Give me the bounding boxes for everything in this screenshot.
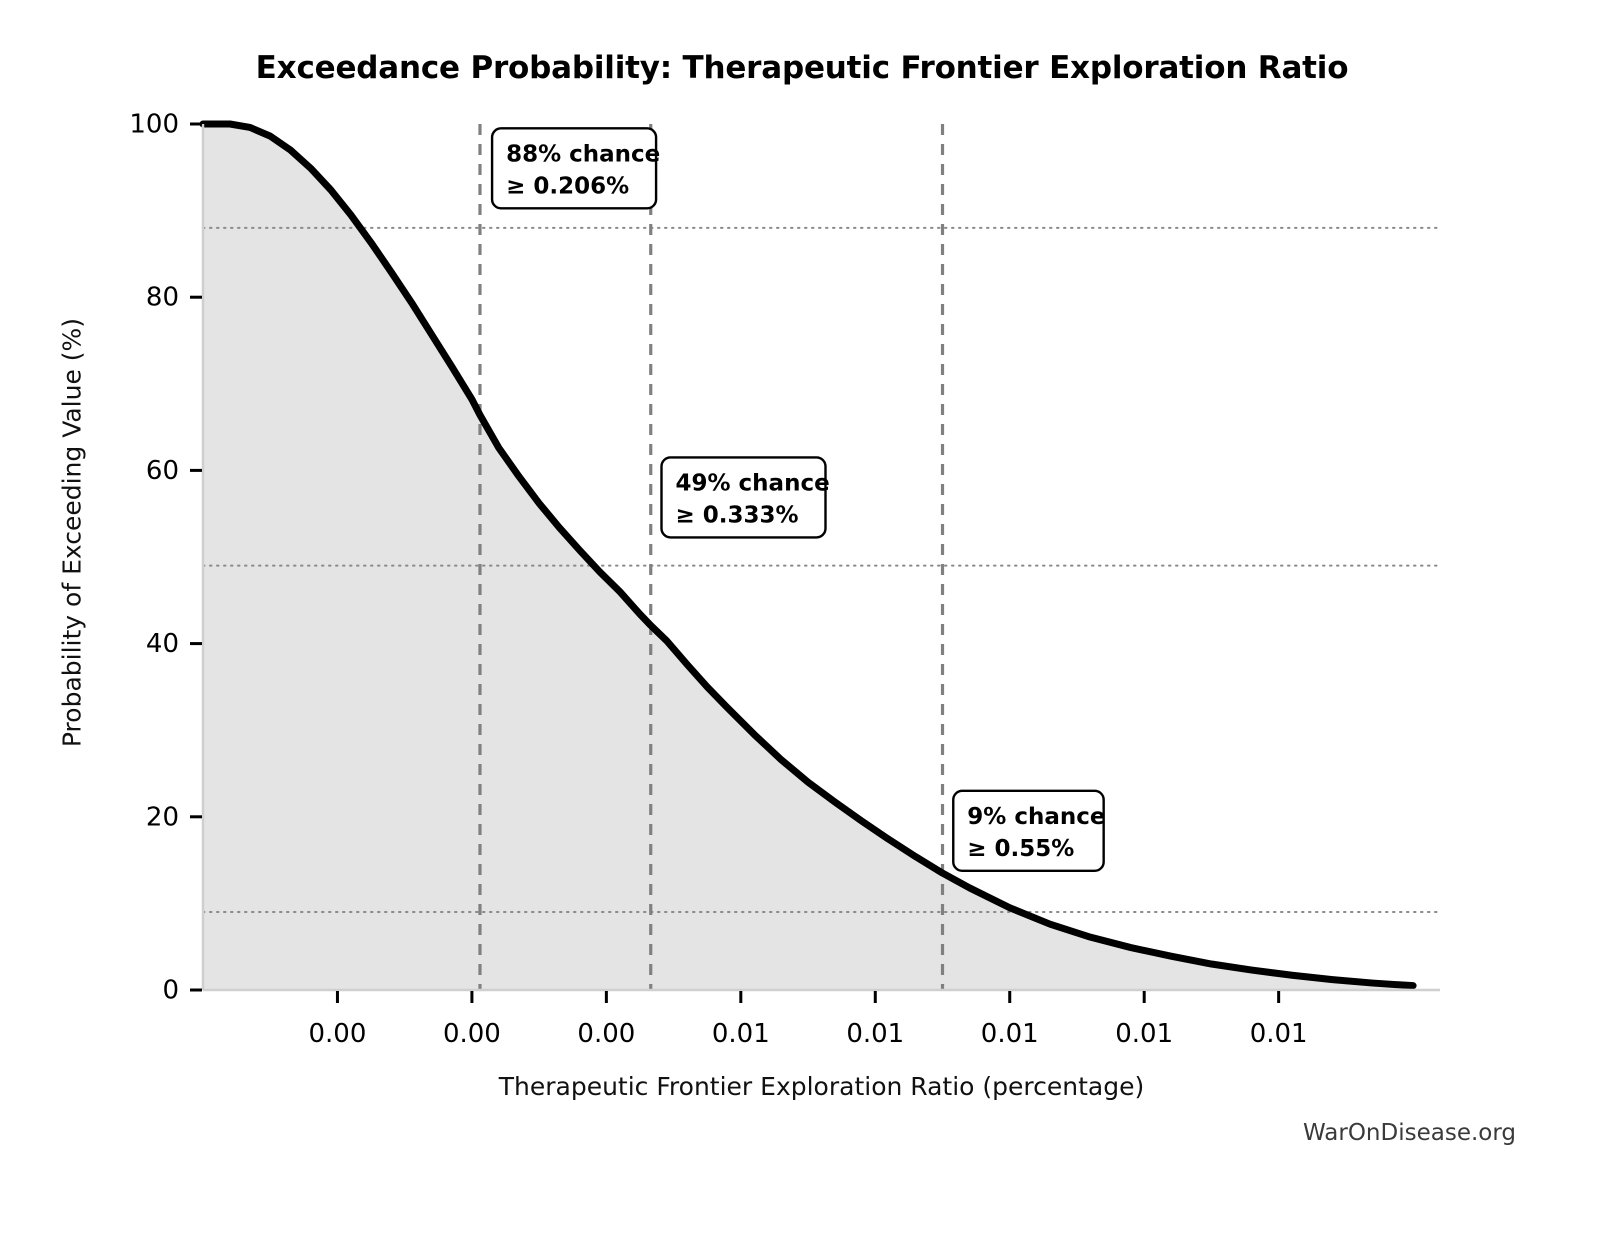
y-axis-tick-label: 80 (146, 283, 179, 313)
area-fill (203, 124, 1413, 990)
annotation-line-1: 88% chance (506, 141, 660, 167)
x-axis-tick-label: 0.01 (1115, 1019, 1173, 1049)
x-axis-label: Therapeutic Frontier Exploration Ratio (… (203, 1072, 1440, 1101)
x-axis-tick-label: 0.01 (712, 1019, 770, 1049)
y-axis-tick-label: 100 (129, 110, 179, 140)
watermark: WarOnDisease.org (1303, 1120, 1516, 1146)
annotation-line-2: ≥ 0.333% (675, 502, 798, 528)
annotation-49: 49% chance≥ 0.333% (661, 457, 829, 537)
y-axis-tick-label: 20 (146, 802, 179, 832)
annotation-line-2: ≥ 0.206% (506, 173, 629, 199)
y-axis-tick-label: 60 (146, 456, 179, 486)
annotation-9: 9% chance≥ 0.55% (953, 791, 1105, 871)
x-axis-tick-label: 0.01 (981, 1019, 1039, 1049)
y-axis-tick-label: 0 (162, 976, 179, 1006)
annotation-line-1: 9% chance (967, 804, 1105, 830)
annotation-line-1: 49% chance (675, 470, 829, 496)
chart-figure: Exceedance Probability: Therapeutic Fron… (0, 0, 1604, 1234)
annotation-line-2: ≥ 0.55% (967, 836, 1074, 862)
y-axis-tick-label: 40 (146, 629, 179, 659)
x-axis-tick-label: 0.01 (1250, 1019, 1308, 1049)
x-axis-tick-label: 0.01 (846, 1019, 904, 1049)
x-axis-tick-label: 0.00 (309, 1019, 367, 1049)
x-axis-tick-label: 0.00 (577, 1019, 635, 1049)
exceedance-probability-plot: 0204060801000.000.000.000.010.010.010.01… (0, 0, 1604, 1234)
annotation-88: 88% chance≥ 0.206% (492, 128, 660, 208)
x-axis-tick-label: 0.00 (443, 1019, 501, 1049)
